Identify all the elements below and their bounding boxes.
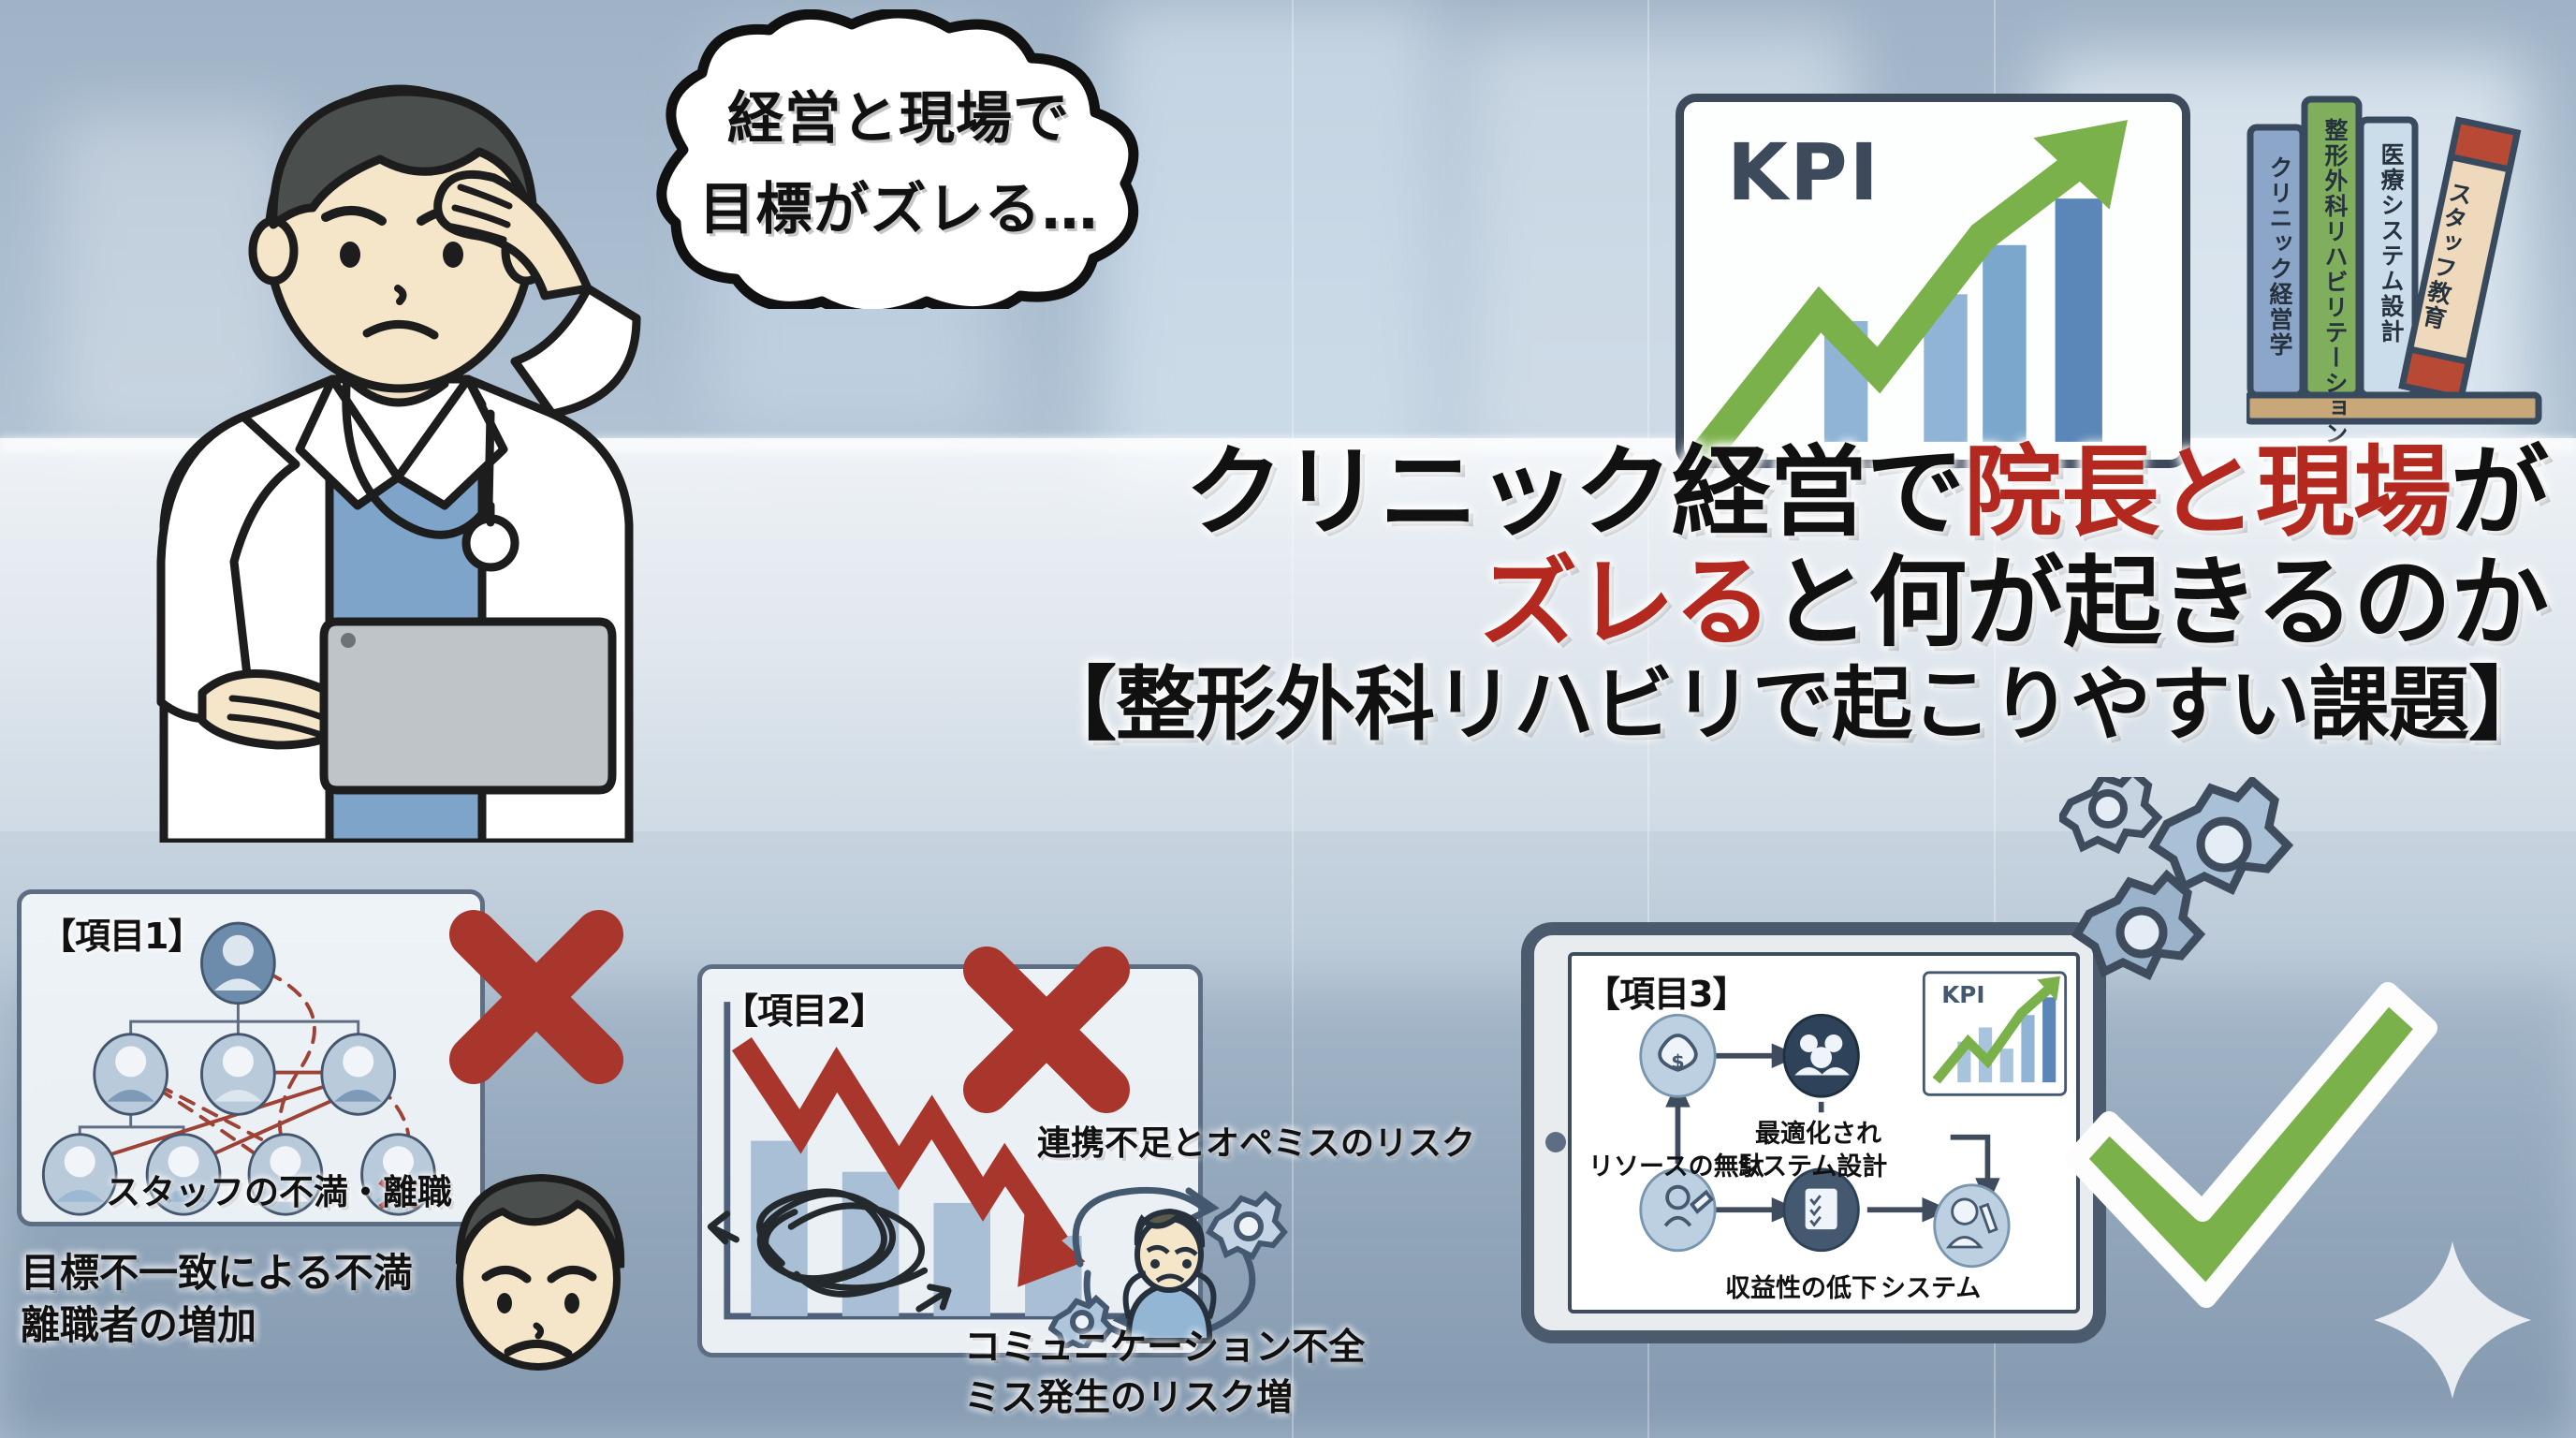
thought-bubble: 経営と現場で 目標がズレる… xyxy=(571,9,1226,309)
page-title: クリニック経営で院長と現場が ズレると何が起きるのか 【整形外科リハビリで起こり… xyxy=(674,438,2565,813)
bookshelf: クリニック経営学 整形外科リハビリテーション 医療システム設計 スタッフ教育 xyxy=(2247,66,2565,459)
sparkle-icon xyxy=(2368,1236,2537,1404)
svg-text:$: $ xyxy=(1671,1050,1684,1073)
card-item-1: 【項目1】 スタッフの不満・離職 xyxy=(17,889,485,1226)
card1-tag: 【項目1】 xyxy=(40,907,202,959)
bubble-line-2: 目標がズレる… xyxy=(699,164,1099,245)
bubble-line-1: 経営と現場で xyxy=(727,73,1070,154)
card2-caption-right: 連携不足とオペミスのリスク xyxy=(1037,1116,1475,1165)
kpi-board-top: KPI xyxy=(1676,94,2190,468)
card3-label-optimized-1: 最適化され xyxy=(1755,1113,1881,1150)
headline-line-1: クリニック経営で院長と現場が xyxy=(1185,438,2548,549)
headline-2a-accent: ズレる xyxy=(1479,546,1771,660)
book-title-1: クリニック経営学 xyxy=(2262,155,2296,358)
book-title-2: 整形外科リハビリテーション xyxy=(2318,118,2351,447)
book-title-3: 医療システム設計 xyxy=(2374,142,2408,345)
card3-tag: 【項目3】 xyxy=(1585,965,1747,1017)
card3-kpi-label: KPI xyxy=(1941,981,1984,1008)
bubble-text: 経営と現場で 目標がズレる… xyxy=(571,9,1226,309)
headline-1b-accent: 院長と現場 xyxy=(1964,435,2451,550)
x-mark-icon-1 xyxy=(438,899,635,1095)
headline-line-3: 【整形外科リハビリで起こりやすい課題】 xyxy=(1036,658,2548,753)
headline-line-2: ズレると何が起きるのか xyxy=(1479,549,2548,659)
headline-1a: クリニック経営で xyxy=(1185,435,1964,550)
tablet-camera-dot xyxy=(1545,1132,1566,1152)
sad-face-illustration xyxy=(426,1161,651,1386)
card2-outer-caption-1: コミュニケーション不全 xyxy=(964,1318,1365,1371)
card-item-3: $ xyxy=(1521,922,2106,1343)
card3-label-system: システム xyxy=(1881,1268,1981,1304)
card2-tag: 【項目2】 xyxy=(723,982,885,1034)
card2-outer-caption-2: ミス発生のリスク増 xyxy=(964,1369,1293,1421)
x-mark-icon-2 xyxy=(953,936,1140,1123)
card1-outer-caption-2: 離職者の増加 xyxy=(21,1294,256,1351)
kpi-label: KPI xyxy=(1727,126,1881,218)
card3-label-profit: 収益性の低下 xyxy=(1725,1268,1877,1304)
headline-1c: が xyxy=(2451,435,2548,550)
headline-2b: と何が起きるのか xyxy=(1771,546,2548,660)
card3-screen: $ xyxy=(1568,952,2080,1313)
card3-label-optimized-2: システム設計 xyxy=(1736,1146,1887,1182)
poster-canvas: 経営と現場で 目標がズレる… KPI xyxy=(0,0,2576,1438)
card1-inner-caption: スタッフの不満・離職 xyxy=(106,1164,452,1214)
card1-outer-caption-1: 目標不一致による不満 xyxy=(21,1241,413,1299)
